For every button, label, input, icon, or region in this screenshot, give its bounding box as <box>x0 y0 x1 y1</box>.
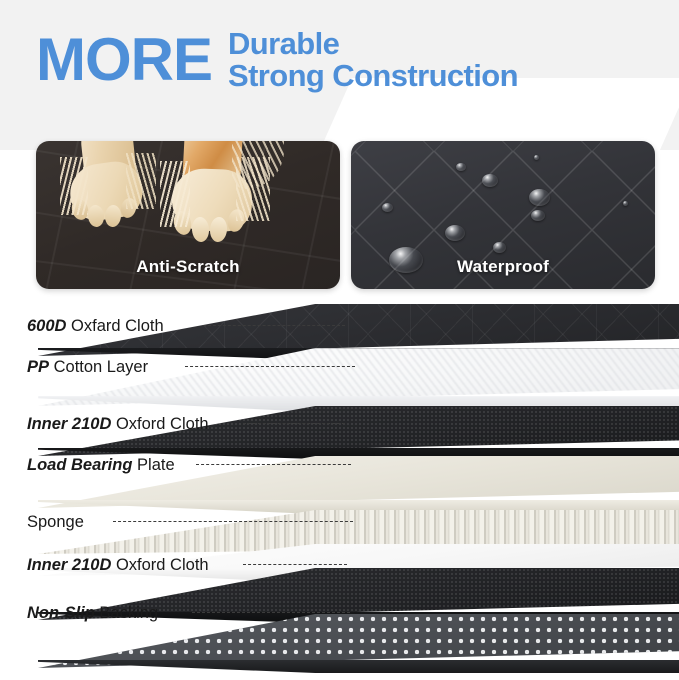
header-inner: MORE Durable Strong Construction <box>0 28 518 91</box>
header: MORE Durable Strong Construction <box>0 0 679 120</box>
header-text-stack: Durable Strong Construction <box>228 28 518 91</box>
label-regular-part: Sponge <box>27 513 84 531</box>
feature-panel-waterproof: Waterproof <box>351 141 655 289</box>
label-regular-part: Oxfard Cloth <box>66 317 163 335</box>
label-bold-part: PP <box>27 358 49 376</box>
label-regular-part: Oxford Cloth <box>111 415 208 433</box>
label-bold-part: Inner 210D <box>27 556 111 574</box>
water-droplet <box>482 174 498 187</box>
layer-label-inner-210d-lower: Inner 210D Oxford Cloth <box>27 557 209 574</box>
label-bold-part: Non-Slip <box>27 604 95 622</box>
layer-label-non-slip-backing: Non-Slip Backing <box>27 605 158 622</box>
feature-panel-anti-scratch: Anti-Scratch <box>36 141 340 289</box>
water-droplet <box>623 201 628 206</box>
label-bold-part: Load Bearing <box>27 456 132 474</box>
label-bold-part: 600D <box>27 317 66 335</box>
layer-edge-face <box>38 660 679 673</box>
leader-line-sponge <box>113 521 353 522</box>
layer-label-load-bearing-plate: Load Bearing Plate <box>27 457 175 474</box>
header-line-2: Strong Construction <box>228 60 518 92</box>
water-droplet <box>529 189 550 206</box>
layer-label-pp-cotton: PP Cotton Layer <box>27 359 148 376</box>
layer-label-inner-210d-upper: Inner 210D Oxford Cloth <box>27 416 209 433</box>
label-regular-part: Oxford Cloth <box>111 556 208 574</box>
water-droplet <box>531 210 545 221</box>
water-droplet <box>456 163 466 171</box>
header-emphasis-word: MORE <box>36 30 212 90</box>
leader-line-600d <box>203 325 345 326</box>
infographic-canvas: MORE Durable Strong Construction <box>0 0 679 679</box>
panel-caption-anti-scratch: Anti-Scratch <box>36 257 340 277</box>
layer-top-face <box>38 614 679 668</box>
label-bold-part: Inner 210D <box>27 415 111 433</box>
label-regular-part: Backing <box>95 604 158 622</box>
layer-non-slip-backing <box>18 614 679 680</box>
water-droplet <box>382 203 393 212</box>
panel-caption-waterproof: Waterproof <box>351 257 655 277</box>
label-regular-part: Plate <box>132 456 174 474</box>
layer-label-600d-oxford-cloth: 600D Oxfard Cloth <box>27 318 164 335</box>
leader-line-load-bearing-plate <box>196 464 351 465</box>
water-droplet <box>534 155 539 160</box>
leader-line-inner-210d-upper <box>243 423 345 424</box>
label-regular-part: Cotton Layer <box>49 358 148 376</box>
leader-line-non-slip-backing <box>192 612 350 613</box>
water-droplet <box>493 242 506 253</box>
leader-line-inner-210d-lower <box>243 564 347 565</box>
dog-paw-left <box>64 141 150 231</box>
layer-label-sponge: Sponge <box>27 514 84 531</box>
leader-line-pp-cotton <box>185 366 355 367</box>
header-line-1: Durable <box>228 28 518 60</box>
water-droplet <box>445 225 465 241</box>
